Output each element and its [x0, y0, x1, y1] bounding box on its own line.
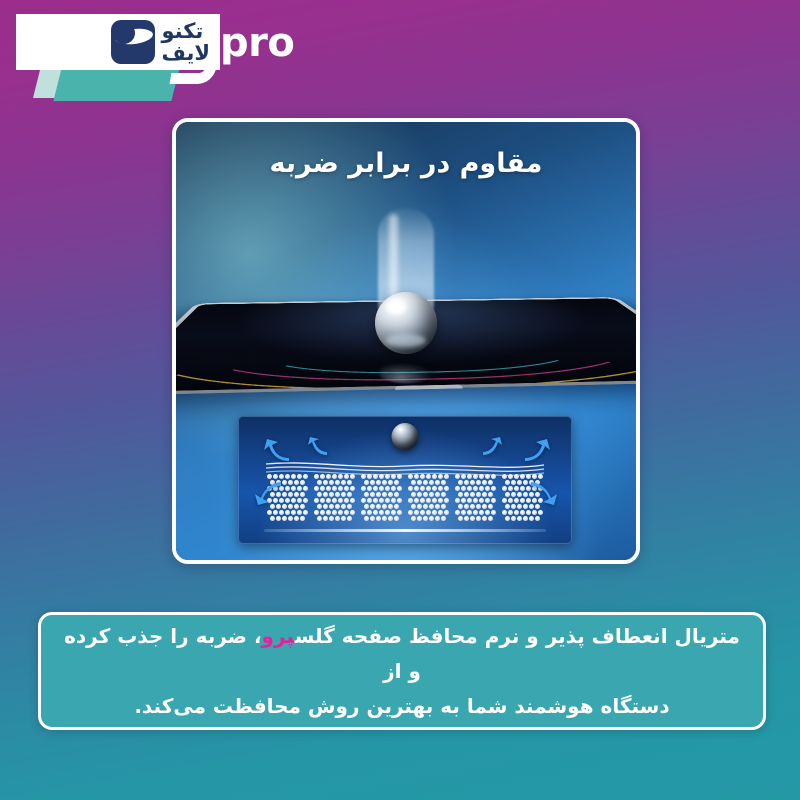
- arrow-left-lower-icon: [252, 478, 284, 506]
- arrow-left-upper-icon: [262, 438, 292, 464]
- tablet-home-indicator: [395, 385, 463, 390]
- poster-root: مقاوم در برابر ضربه: [0, 0, 800, 800]
- lattice-column: [407, 474, 449, 526]
- brand-word-line-2: لایف: [161, 43, 210, 64]
- brand-watermark: تکنو لایف: [16, 14, 220, 70]
- lattice-column: [360, 474, 402, 526]
- brand-accent-shapes: [30, 56, 210, 102]
- arrow-left-mid-icon: [306, 436, 330, 458]
- caption-text: متریال انعطاف پذیر و نرم محافظ صفحه گلسپ…: [63, 619, 741, 724]
- diagram-base-line: [264, 529, 546, 532]
- arrow-right-lower-icon: [528, 478, 560, 506]
- molecular-cushion-columns: [266, 474, 544, 526]
- arrow-right-mid-icon: [480, 436, 504, 458]
- caption-brand-glass: گلس: [295, 624, 335, 648]
- caption-line-1-part-a: متریال انعطاف پذیر و نرم محافظ صفحه: [335, 624, 740, 648]
- accent-shape-teal: [53, 64, 180, 101]
- brand-word-line-1: تکنو: [161, 21, 203, 42]
- brand-wordmark: تکنو لایف: [161, 21, 210, 64]
- accent-shape-pale: [33, 58, 87, 98]
- caption-box: متریال انعطاف پذیر و نرم محافظ صفحه گلسپ…: [38, 612, 766, 730]
- ball-reflection: [379, 363, 433, 384]
- caption-brand-pro: پرو: [262, 624, 295, 648]
- hero-title: مقاوم در برابر ضربه: [176, 148, 636, 179]
- technolife-logo-icon: [111, 20, 155, 64]
- steel-ball-icon: [375, 292, 437, 354]
- accent-shape-hook: [169, 54, 218, 84]
- diagram-ball-icon: [392, 423, 419, 450]
- hero-image-card: مقاوم در برابر ضربه: [172, 118, 640, 564]
- lattice-column: [455, 474, 497, 526]
- caption-line-2: دستگاه هوشمند شما به بهترین روش محافظت م…: [134, 694, 669, 718]
- shock-absorption-panel: [238, 416, 572, 544]
- lattice-column: [313, 474, 355, 526]
- arrow-right-upper-icon: [522, 438, 552, 464]
- brand-plate: [16, 14, 220, 70]
- product-word-pro: pro: [220, 20, 294, 66]
